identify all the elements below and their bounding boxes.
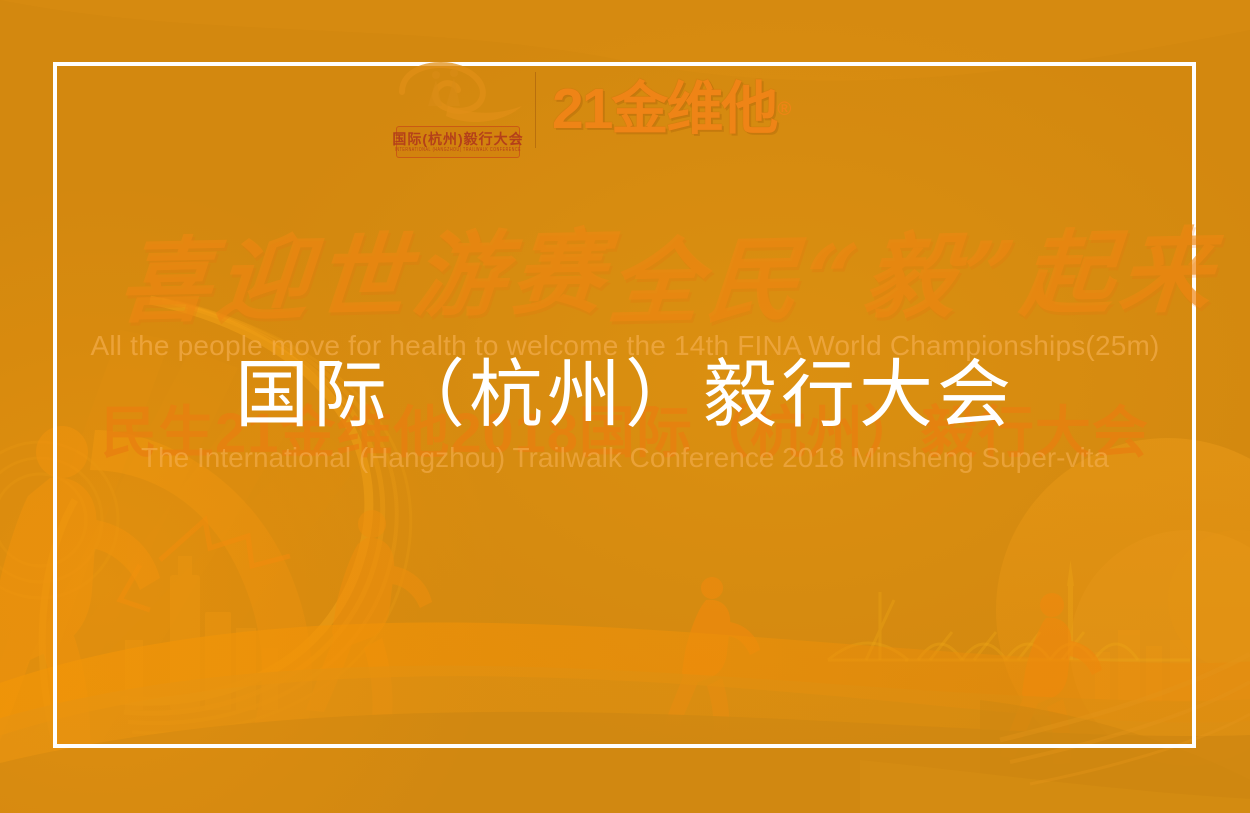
logo-divider [535,72,536,148]
page-title: 国际（杭州）毅行大会 [0,358,1250,432]
trailwalk-emblem: 国际(杭州)毅行大会 INTERNATIONAL (HANGZHOU) TRAI… [390,62,525,157]
emblem-english-name: INTERNATIONAL (HANGZHOU) TRAILWALK CONFE… [395,148,521,153]
emblem-chinese-name: 国际(杭州)毅行大会 [392,132,523,146]
sponsor-brand: 21金维他 ® [552,62,860,157]
emblem-nameplate: 国际(杭州)毅行大会 INTERNATIONAL (HANGZHOU) TRAI… [396,126,520,158]
registered-trademark-icon: ® [777,99,791,121]
logo-lockup: 国际(杭州)毅行大会 INTERNATIONAL (HANGZHOU) TRAI… [390,62,860,157]
trailwalk-swoosh-icon [390,62,525,132]
brand-wordmark: 21金维他 [552,81,776,138]
poster-canvas: 国际(杭州)毅行大会 INTERNATIONAL (HANGZHOU) TRAI… [0,0,1250,813]
